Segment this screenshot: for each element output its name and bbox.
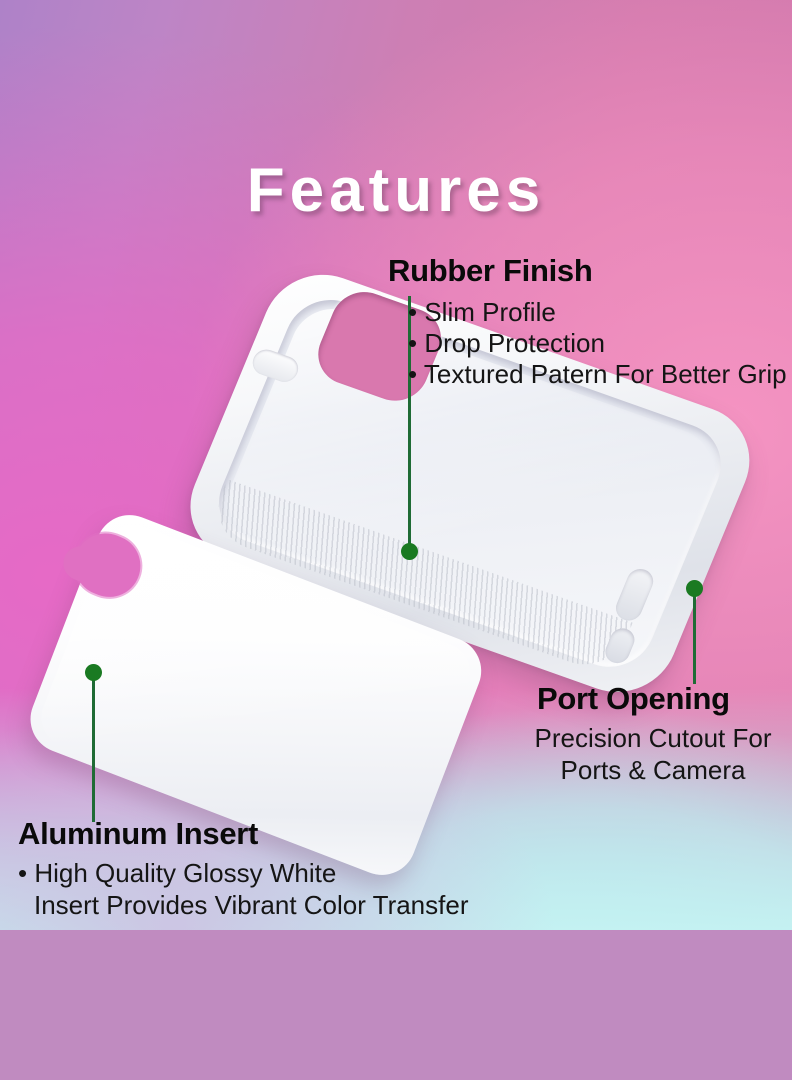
aluminum-insert (0, 429, 546, 930)
infographic-page: Features Rubber Finish • Slim Profile • … (0, 0, 792, 1080)
callout-heading-rubber-finish: Rubber Finish (388, 255, 593, 287)
green-dot-marker-port-opening (686, 580, 703, 597)
page-title: Features (0, 160, 792, 222)
callout-lines-port-opening: Precision Cutout For Ports & Camera (514, 722, 792, 786)
leader-line-aluminum-insert (92, 676, 95, 822)
callout-heading-aluminum-insert: Aluminum Insert (18, 818, 258, 850)
callout-heading-port-opening: Port Opening (537, 683, 730, 715)
artwork-area: Features Rubber Finish • Slim Profile • … (0, 0, 792, 930)
callout-line: Ports & Camera (514, 754, 792, 786)
green-dot-marker-aluminum-insert (85, 664, 102, 681)
leader-line-port-opening (693, 592, 696, 684)
bullet-item: • Textured Patern For Better Grip (408, 359, 787, 390)
bullet-item: • Slim Profile (408, 297, 787, 328)
bullet-item: • Drop Protection (408, 328, 787, 359)
green-dot-marker-rubber-finish (401, 543, 418, 560)
callout-list-rubber-finish: • Slim Profile • Drop Protection • Textu… (408, 297, 787, 391)
bullet-item-continuation: Insert Provides Vibrant Color Transfer (18, 890, 468, 922)
bullet-item: • High Quality Glossy White (18, 858, 468, 890)
callout-line: Precision Cutout For (514, 722, 792, 754)
callout-list-aluminum-insert: • High Quality Glossy White Insert Provi… (18, 858, 468, 921)
bottom-letterbox-band (0, 930, 792, 1080)
